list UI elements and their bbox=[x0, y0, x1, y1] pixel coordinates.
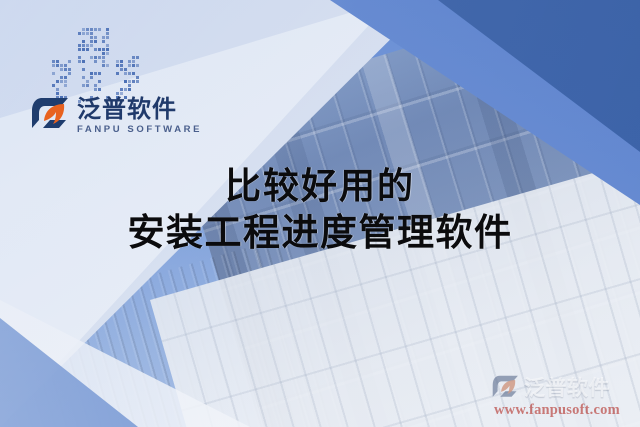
watermark-brand-row: 泛普软件 bbox=[492, 372, 638, 402]
promo-banner: 泛普软件 FANPU SOFTWARE 比较好用的 安装工程进度管理软件 泛普软… bbox=[0, 0, 640, 427]
logo-name-cn: 泛普软件 bbox=[77, 98, 202, 122]
fanpu-watermark-mark-icon bbox=[492, 375, 520, 399]
brand-logo: 泛普软件 FANPU SOFTWARE bbox=[31, 97, 202, 135]
logo-name-en: FANPU SOFTWARE bbox=[77, 125, 202, 135]
watermark-url: www.fanpusoft.com bbox=[494, 402, 638, 419]
watermark-name-cn: 泛普软件 bbox=[524, 372, 610, 402]
site-watermark: 泛普软件 www.fanpusoft.com bbox=[492, 372, 638, 419]
pixel-skyline-icon bbox=[48, 24, 144, 104]
fanpu-logo-mark-icon bbox=[31, 97, 71, 131]
logo-text-block: 泛普软件 FANPU SOFTWARE bbox=[77, 97, 202, 135]
